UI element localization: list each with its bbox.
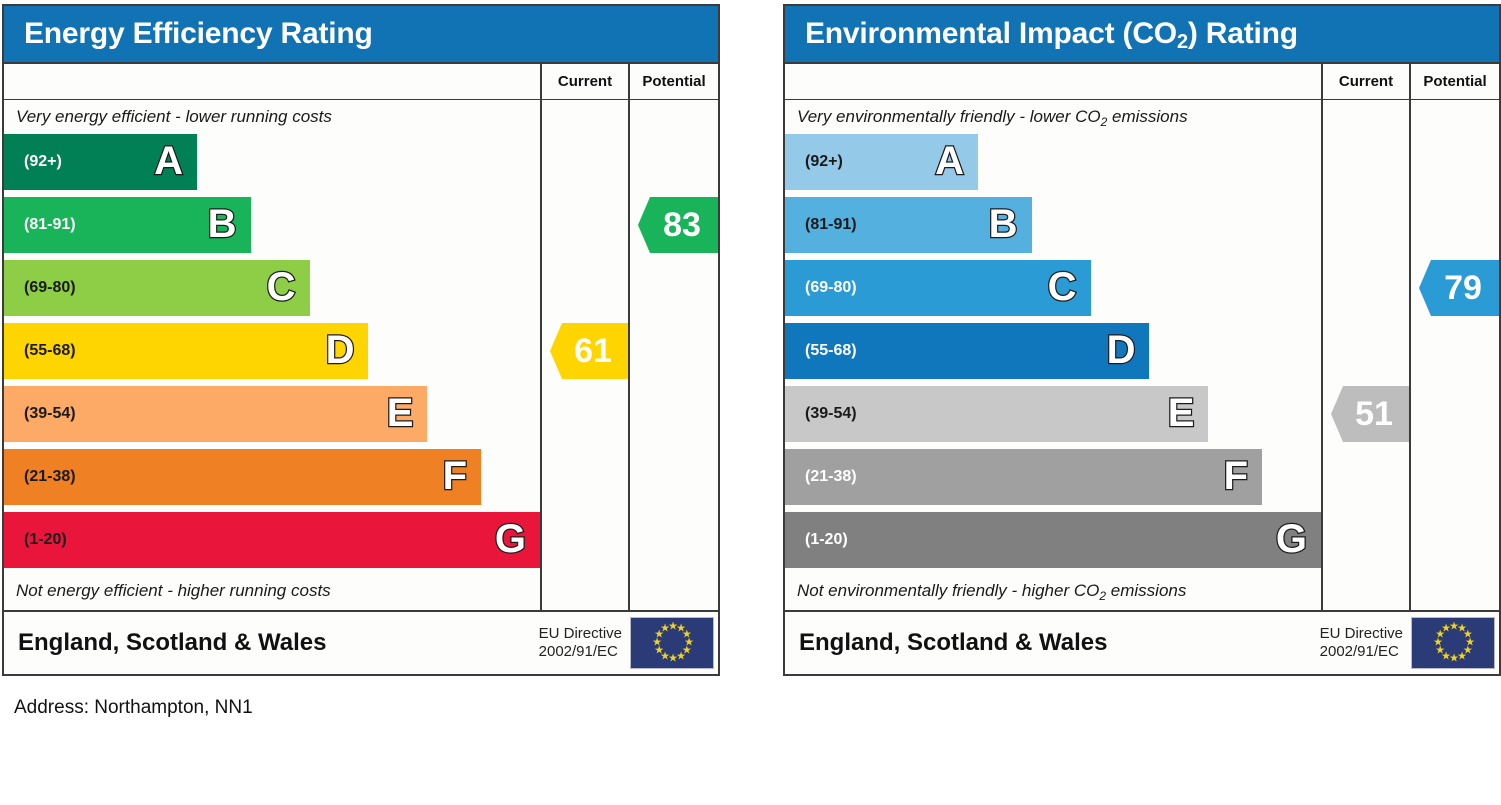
energy-header-spacer bbox=[4, 64, 542, 99]
energy-current-column: 61 bbox=[542, 100, 630, 610]
band-range-label: (92+) bbox=[785, 153, 843, 171]
band-range-label: (81-91) bbox=[4, 216, 76, 234]
band-letter-f: F bbox=[1224, 456, 1248, 496]
band-row-b: (81-91)B bbox=[785, 197, 1032, 253]
band-letter-a: A bbox=[935, 141, 964, 181]
co2-title-suffix: ) Rating bbox=[1188, 17, 1298, 50]
co2-current-rating-marker: 51 bbox=[1331, 386, 1409, 442]
co2-header-current: Current bbox=[1323, 64, 1411, 99]
band-row-c: (69-80)C bbox=[785, 260, 1091, 316]
energy-footer-region: England, Scotland & Wales bbox=[4, 629, 539, 657]
energy-chart-title-bar: Energy Efficiency Rating bbox=[4, 6, 718, 62]
band-row-g: (1-20)G bbox=[4, 512, 540, 568]
band-range-label: (21-38) bbox=[785, 468, 857, 486]
band-letter-a: A bbox=[154, 141, 183, 181]
band-range-label: (55-68) bbox=[4, 342, 76, 360]
band-range-label: (1-20) bbox=[4, 531, 67, 549]
eu-flag-icon: ★★★★★★★★★★★★ bbox=[1411, 617, 1495, 669]
co2-column-header-row: Current Potential bbox=[785, 62, 1499, 100]
co2-chart-body: Very environmentally friendly - lower CO… bbox=[785, 100, 1499, 610]
band-letter-g: G bbox=[1276, 519, 1307, 559]
co2-header-spacer bbox=[785, 64, 1323, 99]
energy-band-stack: (92+)A(81-91)B(69-80)C(55-68)D(39-54)E(2… bbox=[4, 134, 540, 574]
co2-potential-rating-value: 79 bbox=[1444, 269, 1482, 308]
energy-header-current: Current bbox=[542, 64, 630, 99]
band-row-e: (39-54)E bbox=[4, 386, 427, 442]
band-range-label: (69-80) bbox=[4, 279, 76, 297]
co2-directive-line1: EU Directive bbox=[1320, 625, 1403, 642]
energy-top-caption: Very energy efficient - lower running co… bbox=[4, 100, 540, 134]
band-row-c: (69-80)C bbox=[4, 260, 310, 316]
co2-title-subscript: 2 bbox=[1177, 31, 1188, 53]
co2-current-column: 51 bbox=[1323, 100, 1411, 610]
co2-chart-footer: England, Scotland & Wales EU Directive 2… bbox=[785, 610, 1499, 674]
band-range-label: (81-91) bbox=[785, 216, 857, 234]
band-row-a: (92+)A bbox=[4, 134, 197, 190]
band-row-d: (55-68)D bbox=[785, 323, 1149, 379]
co2-directive-line2: 2002/91/EC bbox=[1320, 643, 1399, 660]
band-range-label: (69-80) bbox=[785, 279, 857, 297]
co2-bands-area: Very environmentally friendly - lower CO… bbox=[785, 100, 1323, 610]
co2-bottom-caption-subscript: 2 bbox=[1099, 589, 1106, 603]
band-row-a: (92+)A bbox=[785, 134, 978, 190]
band-range-label: (92+) bbox=[4, 153, 62, 171]
band-letter-d: D bbox=[326, 330, 355, 370]
eu-star-icon: ★ bbox=[1441, 624, 1451, 635]
band-row-f: (21-38)F bbox=[785, 449, 1262, 505]
co2-bottom-caption-suffix: emissions bbox=[1106, 581, 1186, 600]
environmental-impact-rating-chart: Environmental Impact (CO2) Rating Curren… bbox=[783, 4, 1501, 676]
band-letter-e: E bbox=[387, 393, 414, 433]
co2-top-caption-suffix: emissions bbox=[1107, 107, 1187, 126]
band-letter-c: C bbox=[1048, 267, 1077, 307]
energy-potential-column: 83 bbox=[630, 100, 718, 610]
band-letter-d: D bbox=[1107, 330, 1136, 370]
band-row-d: (55-68)D bbox=[4, 323, 368, 379]
energy-chart-body: Very energy efficient - lower running co… bbox=[4, 100, 718, 610]
energy-directive-line2: 2002/91/EC bbox=[539, 643, 618, 660]
co2-top-caption-prefix: Very environmentally friendly - lower CO bbox=[797, 107, 1101, 126]
eu-star-icon: ★ bbox=[660, 624, 670, 635]
co2-header-potential: Potential bbox=[1411, 64, 1499, 99]
co2-footer-directive: EU Directive 2002/91/EC bbox=[1320, 625, 1411, 661]
energy-current-rating-value: 61 bbox=[574, 332, 612, 371]
energy-bands-area: Very energy efficient - lower running co… bbox=[4, 100, 542, 610]
energy-chart-title: Energy Efficiency Rating bbox=[24, 17, 373, 51]
energy-chart-footer: England, Scotland & Wales EU Directive 2… bbox=[4, 610, 718, 674]
energy-efficiency-rating-chart: Energy Efficiency Rating Current Potenti… bbox=[2, 4, 720, 676]
energy-header-potential: Potential bbox=[630, 64, 718, 99]
eu-flag-icon: ★★★★★★★★★★★★ bbox=[630, 617, 714, 669]
band-row-b: (81-91)B bbox=[4, 197, 251, 253]
band-row-f: (21-38)F bbox=[4, 449, 481, 505]
band-letter-b: B bbox=[989, 204, 1018, 244]
co2-bottom-caption: Not environmentally friendly - higher CO… bbox=[785, 574, 1321, 608]
address-line: Address: Northampton, NN1 bbox=[14, 697, 253, 719]
energy-potential-rating-value: 83 bbox=[663, 206, 701, 245]
band-range-label: (1-20) bbox=[785, 531, 848, 549]
energy-potential-rating-marker: 83 bbox=[638, 197, 718, 253]
energy-column-header-row: Current Potential bbox=[4, 62, 718, 100]
energy-footer-directive: EU Directive 2002/91/EC bbox=[539, 625, 630, 661]
band-range-label: (39-54) bbox=[4, 405, 76, 423]
co2-footer-region: England, Scotland & Wales bbox=[785, 629, 1320, 657]
energy-directive-line1: EU Directive bbox=[539, 625, 622, 642]
band-letter-f: F bbox=[443, 456, 467, 496]
band-row-g: (1-20)G bbox=[785, 512, 1321, 568]
band-range-label: (39-54) bbox=[785, 405, 857, 423]
co2-potential-column: 79 bbox=[1411, 100, 1499, 610]
band-letter-c: C bbox=[267, 267, 296, 307]
band-letter-e: E bbox=[1168, 393, 1195, 433]
co2-top-caption-subscript: 2 bbox=[1101, 115, 1108, 129]
co2-band-stack: (92+)A(81-91)B(69-80)C(55-68)D(39-54)E(2… bbox=[785, 134, 1321, 574]
co2-chart-title: Environmental Impact (CO2) Rating bbox=[805, 17, 1298, 51]
co2-potential-rating-marker: 79 bbox=[1419, 260, 1499, 316]
energy-current-rating-marker: 61 bbox=[550, 323, 628, 379]
band-row-e: (39-54)E bbox=[785, 386, 1208, 442]
band-letter-b: B bbox=[208, 204, 237, 244]
co2-title-prefix: Environmental Impact (CO bbox=[805, 17, 1177, 50]
co2-bottom-caption-prefix: Not environmentally friendly - higher CO bbox=[797, 581, 1099, 600]
band-letter-g: G bbox=[495, 519, 526, 559]
band-range-label: (21-38) bbox=[4, 468, 76, 486]
co2-chart-title-bar: Environmental Impact (CO2) Rating bbox=[785, 6, 1499, 62]
co2-top-caption: Very environmentally friendly - lower CO… bbox=[785, 100, 1321, 134]
band-range-label: (55-68) bbox=[785, 342, 857, 360]
energy-bottom-caption: Not energy efficient - higher running co… bbox=[4, 574, 540, 608]
co2-current-rating-value: 51 bbox=[1355, 395, 1393, 434]
